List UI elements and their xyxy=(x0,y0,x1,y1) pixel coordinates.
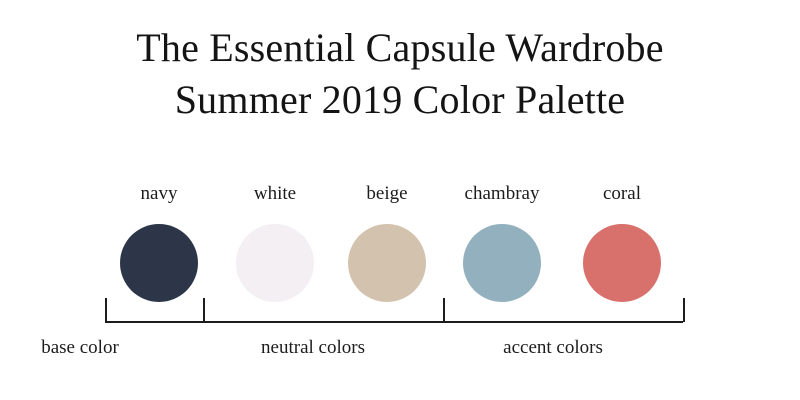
page-title: The Essential Capsule Wardrobe Summer 20… xyxy=(0,22,800,126)
swatch-coral: coral xyxy=(562,182,682,302)
group-label-neutral-colors: neutral colors xyxy=(203,336,423,360)
bracket-rule-base-color xyxy=(105,321,203,323)
swatch-label-white: white xyxy=(215,182,335,206)
title-line-2: Summer 2019 Color Palette xyxy=(0,74,800,126)
swatch-dot-navy xyxy=(120,224,198,302)
swatch-dot-chambray xyxy=(463,224,541,302)
bracket-rule-neutral-colors xyxy=(203,321,443,323)
swatch-beige: beige xyxy=(327,182,447,302)
color-palette-graphic: The Essential Capsule Wardrobe Summer 20… xyxy=(0,0,800,400)
swatch-label-navy: navy xyxy=(99,182,219,206)
swatch-row: navy white beige chambray coral xyxy=(0,182,800,312)
title-line-1: The Essential Capsule Wardrobe xyxy=(0,22,800,74)
swatch-chambray: chambray xyxy=(442,182,562,302)
swatch-dot-beige xyxy=(348,224,426,302)
swatch-white: white xyxy=(215,182,335,302)
swatch-label-chambray: chambray xyxy=(442,182,562,206)
group-label-accent-colors: accent colors xyxy=(443,336,663,360)
swatch-label-coral: coral xyxy=(562,182,682,206)
swatch-label-beige: beige xyxy=(327,182,447,206)
swatch-navy: navy xyxy=(99,182,219,302)
bracket-rule-accent-colors xyxy=(443,321,683,323)
swatch-dot-white xyxy=(236,224,314,302)
swatch-dot-coral xyxy=(583,224,661,302)
group-label-base-color: base color xyxy=(0,336,190,360)
